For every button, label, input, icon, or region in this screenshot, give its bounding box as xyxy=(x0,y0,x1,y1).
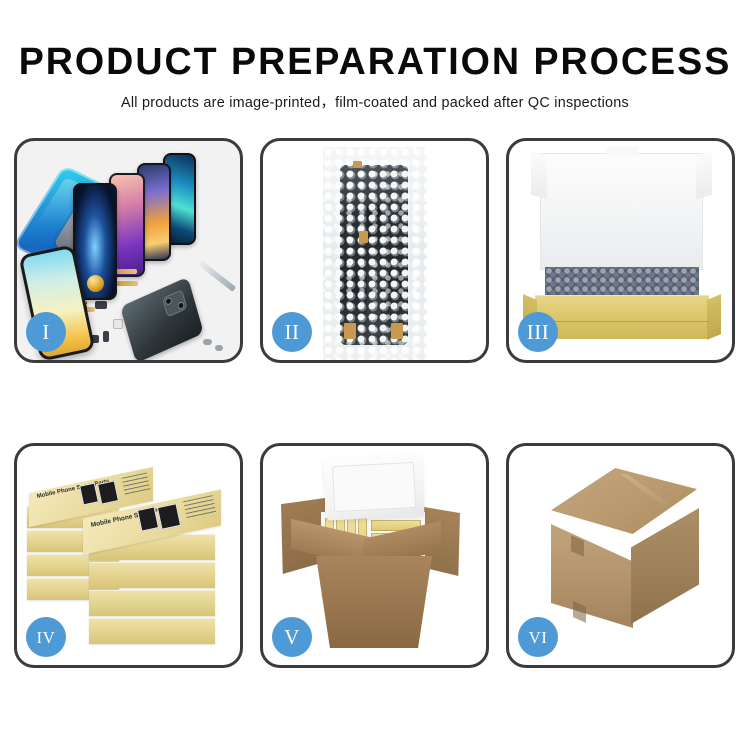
step-badge-3: III xyxy=(518,312,558,352)
tape-piece xyxy=(353,161,362,168)
process-step-grid: I II xyxy=(14,138,736,668)
process-step-panel-2[interactable]: II xyxy=(260,138,489,363)
carton-face-left xyxy=(551,524,633,628)
page-title: PRODUCT PREPARATION PROCESS xyxy=(4,0,747,83)
page-subtitle: All products are image-printed，film-coat… xyxy=(0,83,750,112)
component-part xyxy=(215,345,223,351)
tape-piece xyxy=(391,323,403,339)
process-step-panel-4[interactable]: Mobile Phone Spare Parts Mobile Phone Sp… xyxy=(14,443,243,668)
step-badge-6: VI xyxy=(518,617,558,657)
foam-lid-rim xyxy=(332,462,416,512)
component-part xyxy=(113,319,123,329)
box-flap-left xyxy=(531,151,547,200)
box-flap-right xyxy=(696,151,712,200)
stacked-box xyxy=(89,618,215,644)
step-badge-2: II xyxy=(272,312,312,352)
product-preparation-infographic: PRODUCT PREPARATION PROCESS All products… xyxy=(0,0,750,750)
component-part xyxy=(203,339,212,345)
tape-piece xyxy=(344,323,356,339)
camera-lens-graphic xyxy=(162,289,188,317)
step-badge-1: I xyxy=(26,312,66,352)
box-tab-graphic xyxy=(606,147,638,156)
vibration-motor-graphic xyxy=(87,275,104,292)
component-part xyxy=(103,331,109,342)
phone-back-cover-graphic xyxy=(120,277,204,360)
process-step-panel-5[interactable]: V xyxy=(260,443,489,668)
process-step-panel-3[interactable]: III xyxy=(506,138,735,363)
tray-seam xyxy=(535,321,709,322)
carton-body-graphic xyxy=(316,556,432,648)
bubble-highlight-texture xyxy=(323,147,427,360)
tray-end-right xyxy=(707,294,721,340)
component-part xyxy=(116,281,138,286)
component-part xyxy=(95,301,107,309)
foam-sheet-graphic xyxy=(540,153,703,270)
tweezers-icon xyxy=(198,260,236,292)
foam-lid-graphic xyxy=(323,453,424,520)
process-step-panel-1[interactable]: I xyxy=(14,138,243,363)
process-step-panel-6[interactable]: VI xyxy=(506,443,735,668)
bubble-wrap-bag-graphic xyxy=(323,147,427,360)
kraft-tray-graphic xyxy=(535,295,709,339)
step-badge-4: IV xyxy=(26,617,66,657)
step-badge-5: V xyxy=(272,617,312,657)
tape-piece xyxy=(359,231,368,243)
stacked-box xyxy=(89,562,215,588)
header: PRODUCT PREPARATION PROCESS All products… xyxy=(0,0,750,112)
stacked-box xyxy=(89,590,215,616)
